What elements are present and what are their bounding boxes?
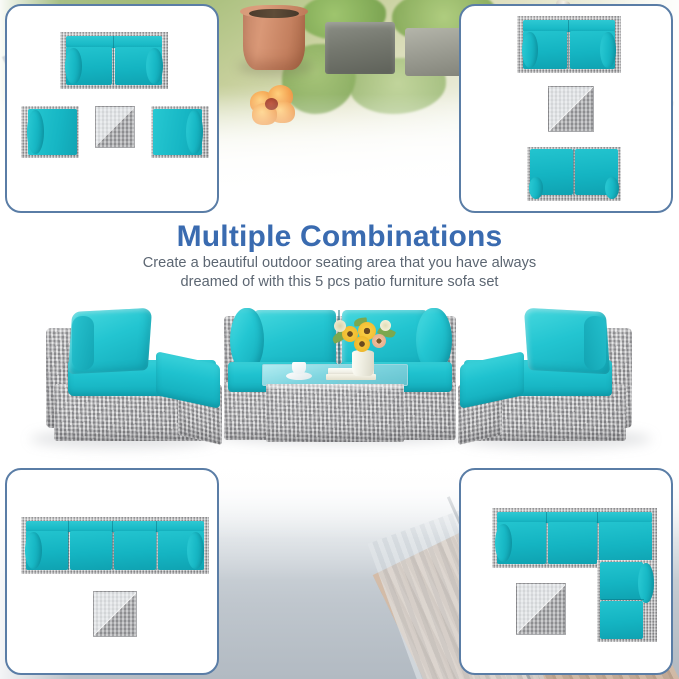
tl-loveseat-bolster-right	[146, 48, 163, 84]
br-sectional-bolster-left	[495, 524, 512, 562]
combination-panel-top-right[interactable]	[459, 4, 673, 213]
tl-loveseat-bolster-left	[65, 48, 82, 84]
bl-sofa-seam-1	[68, 521, 69, 570]
page-subtitle: Create a beautiful outdoor seating area …	[0, 254, 679, 292]
br-sectional-h-seam-2	[597, 512, 598, 564]
loveseat-back-cushion-left	[254, 310, 336, 368]
br-sectional-seat-2	[548, 522, 597, 564]
coffee-table-rim	[266, 384, 404, 389]
chair-right-back-cushion-side	[584, 316, 606, 370]
tl-loveseat-seam	[113, 36, 114, 85]
bl-sofa-seat-3	[114, 531, 156, 570]
subtitle-line-1: Create a beautiful outdoor seating area …	[0, 254, 679, 273]
tr-loveseat-bottom-bolster-left	[529, 177, 543, 199]
combination-panel-top-left[interactable]	[5, 4, 219, 213]
br-sectional-bolster-right	[638, 563, 654, 603]
tr-loveseat-bottom-bolster-right	[605, 177, 619, 199]
br-sectional-seat-5	[600, 601, 643, 639]
br-sectional-vertical	[597, 560, 657, 642]
subtitle-line-2: dreamed of with this 5 pcs patio furnitu…	[0, 273, 679, 292]
hero-furniture-photo	[0, 296, 679, 448]
hero-armless-chair-right	[464, 302, 634, 442]
tr-coffee-table	[548, 86, 594, 132]
br-sectional-seat-3	[599, 522, 652, 564]
tr-loveseat-top-seam	[568, 20, 569, 69]
bl-sofa-seam-3	[156, 521, 157, 570]
coffee-table-body	[266, 384, 404, 442]
combination-panel-bottom-left[interactable]	[5, 468, 219, 675]
white-cup	[292, 362, 306, 374]
chair-left-back-cushion-side	[72, 316, 94, 370]
tl-chair-right	[151, 106, 209, 158]
tr-loveseat-top-bolster-right	[600, 32, 616, 68]
tl-loveseat	[60, 32, 168, 89]
br-sectional-horizontal	[492, 508, 657, 568]
tl-chair-right-bolster	[186, 110, 203, 154]
page-title: Multiple Combinations	[0, 220, 679, 254]
tr-loveseat-bottom	[527, 147, 621, 201]
sunflower-bouquet	[330, 318, 396, 356]
tr-loveseat-top-bolster-left	[522, 32, 538, 68]
bl-sofa-bolster-right	[187, 532, 204, 569]
tl-coffee-table	[95, 106, 135, 148]
br-sectional-seat-4	[600, 562, 643, 600]
product-marketing-image: Multiple Combinations Create a beautiful…	[0, 0, 679, 679]
tr-loveseat-top	[517, 16, 621, 73]
br-sectional-v-seam	[600, 599, 644, 600]
tr-loveseat-bottom-seam	[573, 149, 574, 195]
bl-sofa-seam-2	[112, 521, 113, 570]
br-coffee-table	[516, 583, 566, 635]
bl-sofa-bolster-left	[25, 532, 42, 569]
bl-sofa-seat-2	[70, 531, 112, 570]
combination-panel-bottom-right[interactable]	[459, 468, 673, 675]
br-sectional-h-seam-1	[546, 512, 547, 564]
bl-coffee-table	[93, 591, 137, 637]
tl-chair-left-bolster	[27, 110, 44, 154]
hero-armless-chair-left	[46, 302, 214, 442]
bl-four-seat-sofa	[21, 517, 209, 574]
tl-chair-left	[21, 106, 79, 158]
